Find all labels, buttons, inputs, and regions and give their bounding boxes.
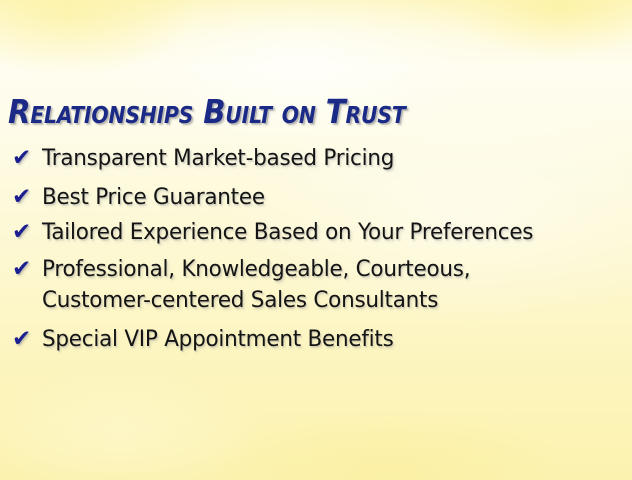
list-item-label: Best Price Guarantee xyxy=(42,182,605,213)
list-item: ✔ Special VIP Appointment Benefits xyxy=(12,324,632,355)
list-item-label: Professional, Knowledgeable, Courteous, … xyxy=(42,254,605,316)
list-item-label: Transparent Market-based Pricing xyxy=(42,143,605,174)
list-item-label: Tailored Experience Based on Your Prefer… xyxy=(42,217,605,248)
checkmark-icon: ✔ xyxy=(12,254,42,285)
list-item: ✔ Best Price Guarantee xyxy=(12,182,632,213)
checkmark-icon: ✔ xyxy=(12,143,42,174)
slide-content: Relationships Built on Trust ✔ Transpare… xyxy=(0,0,632,480)
slide-canvas: Relationships Built on Trust ✔ Transpare… xyxy=(0,0,632,480)
list-item: ✔ Transparent Market-based Pricing xyxy=(12,143,632,174)
list-item: ✔ Professional, Knowledgeable, Courteous… xyxy=(12,254,632,316)
benefits-list: ✔ Transparent Market-based Pricing ✔ Bes… xyxy=(12,143,632,355)
checkmark-icon: ✔ xyxy=(12,182,42,213)
list-item: ✔ Tailored Experience Based on Your Pref… xyxy=(12,217,632,248)
page-title: Relationships Built on Trust xyxy=(8,93,623,131)
checkmark-icon: ✔ xyxy=(12,217,42,248)
list-item-label: Special VIP Appointment Benefits xyxy=(42,324,605,355)
checkmark-icon: ✔ xyxy=(12,324,42,355)
